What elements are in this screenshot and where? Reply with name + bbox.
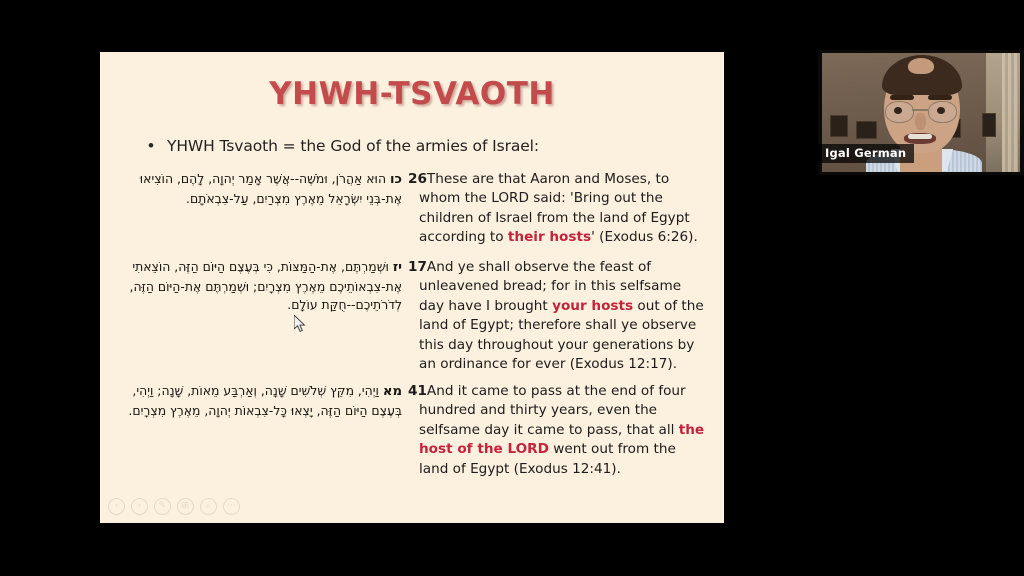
person-eyebrow-right: [928, 95, 952, 100]
wall-picture-frame: [830, 115, 848, 137]
participant-name-label: Igal German: [818, 144, 914, 163]
hebrew-verse-body: וַיְהִי, מִקֵּץ שְׁלֹשִׁים שָׁנָה, וְאַר…: [128, 383, 402, 418]
slide-surface[interactable]: YHWH-TSVAOTH • YHWH Tsvaoth = the God of…: [100, 52, 724, 523]
person-eyebrow-left: [890, 95, 914, 100]
verse-block: מא וַיְהִי, מִקֵּץ שְׁלֹשִׁים שָׁנָה, וְ…: [122, 382, 712, 479]
wall-picture-frame: [856, 121, 877, 139]
next-slide-icon[interactable]: ›: [131, 498, 148, 515]
english-verse-number: 26: [408, 171, 427, 187]
eyeglasses-bridge: [912, 109, 928, 111]
verse-block: יז וּשְׁמַרְתֶּם, אֶת-הַמַּצּוֹת, כִּי ב…: [122, 258, 712, 374]
hebrew-verse-text: כו הוּא אַהֲרֹן, וּמֹשֶׁה--אֲשֶׁר אָמַר …: [122, 170, 408, 208]
english-verse-after: ' (Exodus 6:26).: [591, 229, 698, 245]
bullet-list-item: • YHWH Tsvaoth = the God of the armies o…: [148, 136, 688, 156]
bullet-point-icon: •: [148, 136, 154, 156]
english-verse-text: 26These are that Aaron and Moses, to who…: [408, 170, 706, 248]
hebrew-verse-body: וּשְׁמַרְתֶּם, אֶת-הַמַּצּוֹת, כִּי בְּע…: [130, 259, 402, 312]
webcam-video-panel[interactable]: Igal German: [818, 50, 1024, 175]
person-teeth: [908, 134, 932, 139]
wall-picture-frame: [982, 113, 996, 137]
grid-view-icon[interactable]: ⊞: [177, 498, 194, 515]
hebrew-verse-marker: כו: [390, 172, 402, 187]
hebrew-verse-text: יז וּשְׁמַרְתֶּם, אֶת-הַמַּצּוֹת, כִּי ב…: [122, 258, 408, 315]
pen-icon[interactable]: ✎: [154, 498, 171, 515]
hebrew-verse-marker: מא: [383, 384, 402, 399]
english-verse-number: 17: [408, 259, 427, 275]
english-verse-highlight: your hosts: [552, 298, 633, 314]
person-eye-right: [937, 107, 945, 114]
hebrew-verse-text: מא וַיְהִי, מִקֵּץ שְׁלֹשִׁים שָׁנָה, וְ…: [122, 382, 408, 420]
slideshow-controls-toolbar[interactable]: ‹ › ✎ ⊞ ⌕ ⋯: [108, 498, 240, 515]
zoom-icon[interactable]: ⌕: [200, 498, 217, 515]
mouse-cursor-icon: [294, 315, 306, 333]
presentation-screen: YHWH-TSVAOTH • YHWH Tsvaoth = the God of…: [0, 0, 1024, 576]
page-title: YHWH-TSVAOTH: [100, 76, 724, 112]
english-verse-highlight: their hosts: [508, 229, 591, 245]
bullet-item-label: YHWH Tsvaoth = the God of the armies of …: [167, 136, 539, 156]
curtain: [1002, 53, 1018, 172]
previous-slide-icon[interactable]: ‹: [108, 498, 125, 515]
english-verse-text: 41And it came to pass at the end of four…: [408, 382, 706, 479]
hebrew-verse-body: הוּא אַהֲרֹן, וּמֹשֶׁה--אֲשֶׁר אָמַר יְה…: [140, 171, 402, 206]
more-options-icon[interactable]: ⋯: [223, 498, 240, 515]
english-verse-number: 41: [408, 383, 427, 399]
person-nose: [915, 113, 926, 130]
verse-block: כו הוּא אַהֲרֹן, וּמֹשֶׁה--אֲשֶׁר אָמַר …: [122, 170, 712, 248]
person-eye-left: [894, 107, 902, 114]
english-verse-text: 17And ye shall observe the feast of unle…: [408, 258, 706, 374]
person-forehead: [908, 58, 934, 74]
english-verse-before: And it came to pass at the end of four h…: [419, 383, 686, 438]
hebrew-verse-marker: יז: [393, 260, 402, 275]
